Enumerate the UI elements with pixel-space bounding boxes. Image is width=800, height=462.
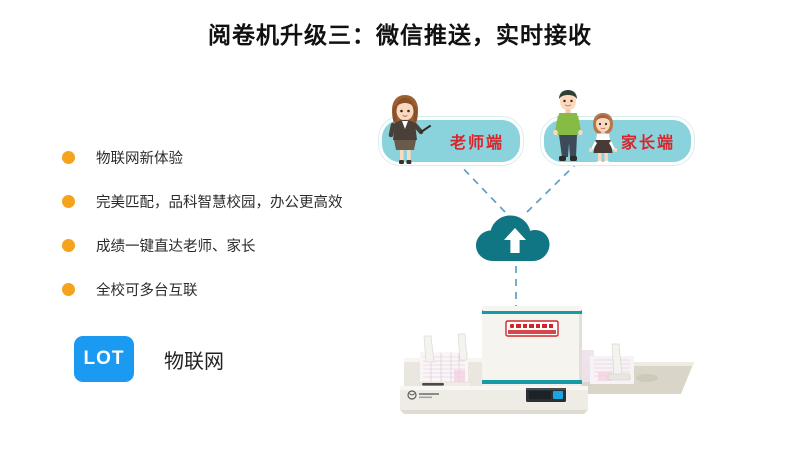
iot-badge-group: LOT 物联网 <box>74 336 224 382</box>
parent-father-icon <box>548 88 588 168</box>
teacher-woman-icon <box>378 90 434 166</box>
list-item: 全校可多台互联 <box>62 278 402 300</box>
bullet-dot-icon <box>62 195 75 208</box>
bullet-dot-icon <box>62 151 75 164</box>
list-item: 完美匹配，品科智慧校园，办公更高效 <box>62 190 402 212</box>
page-title: 阅卷机升级三：微信推送，实时接收 <box>0 16 800 50</box>
bullet-dot-icon <box>62 239 75 252</box>
omr-scanner-photo <box>398 300 694 418</box>
iot-badge-text: LOT <box>84 348 125 370</box>
slide-canvas: 阅卷机升级三：微信推送，实时接收 物联网新体验 完美匹配，品科智慧校园，办公更高… <box>0 0 800 462</box>
list-item-label: 全校可多台互联 <box>96 279 198 300</box>
cloud-upload-icon[interactable] <box>473 209 557 265</box>
iot-label: 物联网 <box>164 345 224 374</box>
connector-cloud-to-teacher <box>455 160 505 212</box>
list-item-label: 物联网新体验 <box>96 147 183 168</box>
list-item-label: 完美匹配，品科智慧校园，办公更高效 <box>96 191 343 212</box>
iot-badge-icon: LOT <box>74 336 134 382</box>
parent-pill-label: 家长端 <box>621 129 675 153</box>
list-item: 物联网新体验 <box>62 146 402 168</box>
list-item-label: 成绩一键直达老师、家长 <box>96 235 256 256</box>
teacher-pill-label: 老师端 <box>450 129 504 153</box>
bullet-dot-icon <box>62 283 75 296</box>
list-item: 成绩一键直达老师、家长 <box>62 234 402 256</box>
parent-child-icon <box>586 110 620 168</box>
feature-list: 物联网新体验 完美匹配，品科智慧校园，办公更高效 成绩一键直达老师、家长 全校可… <box>62 146 402 322</box>
